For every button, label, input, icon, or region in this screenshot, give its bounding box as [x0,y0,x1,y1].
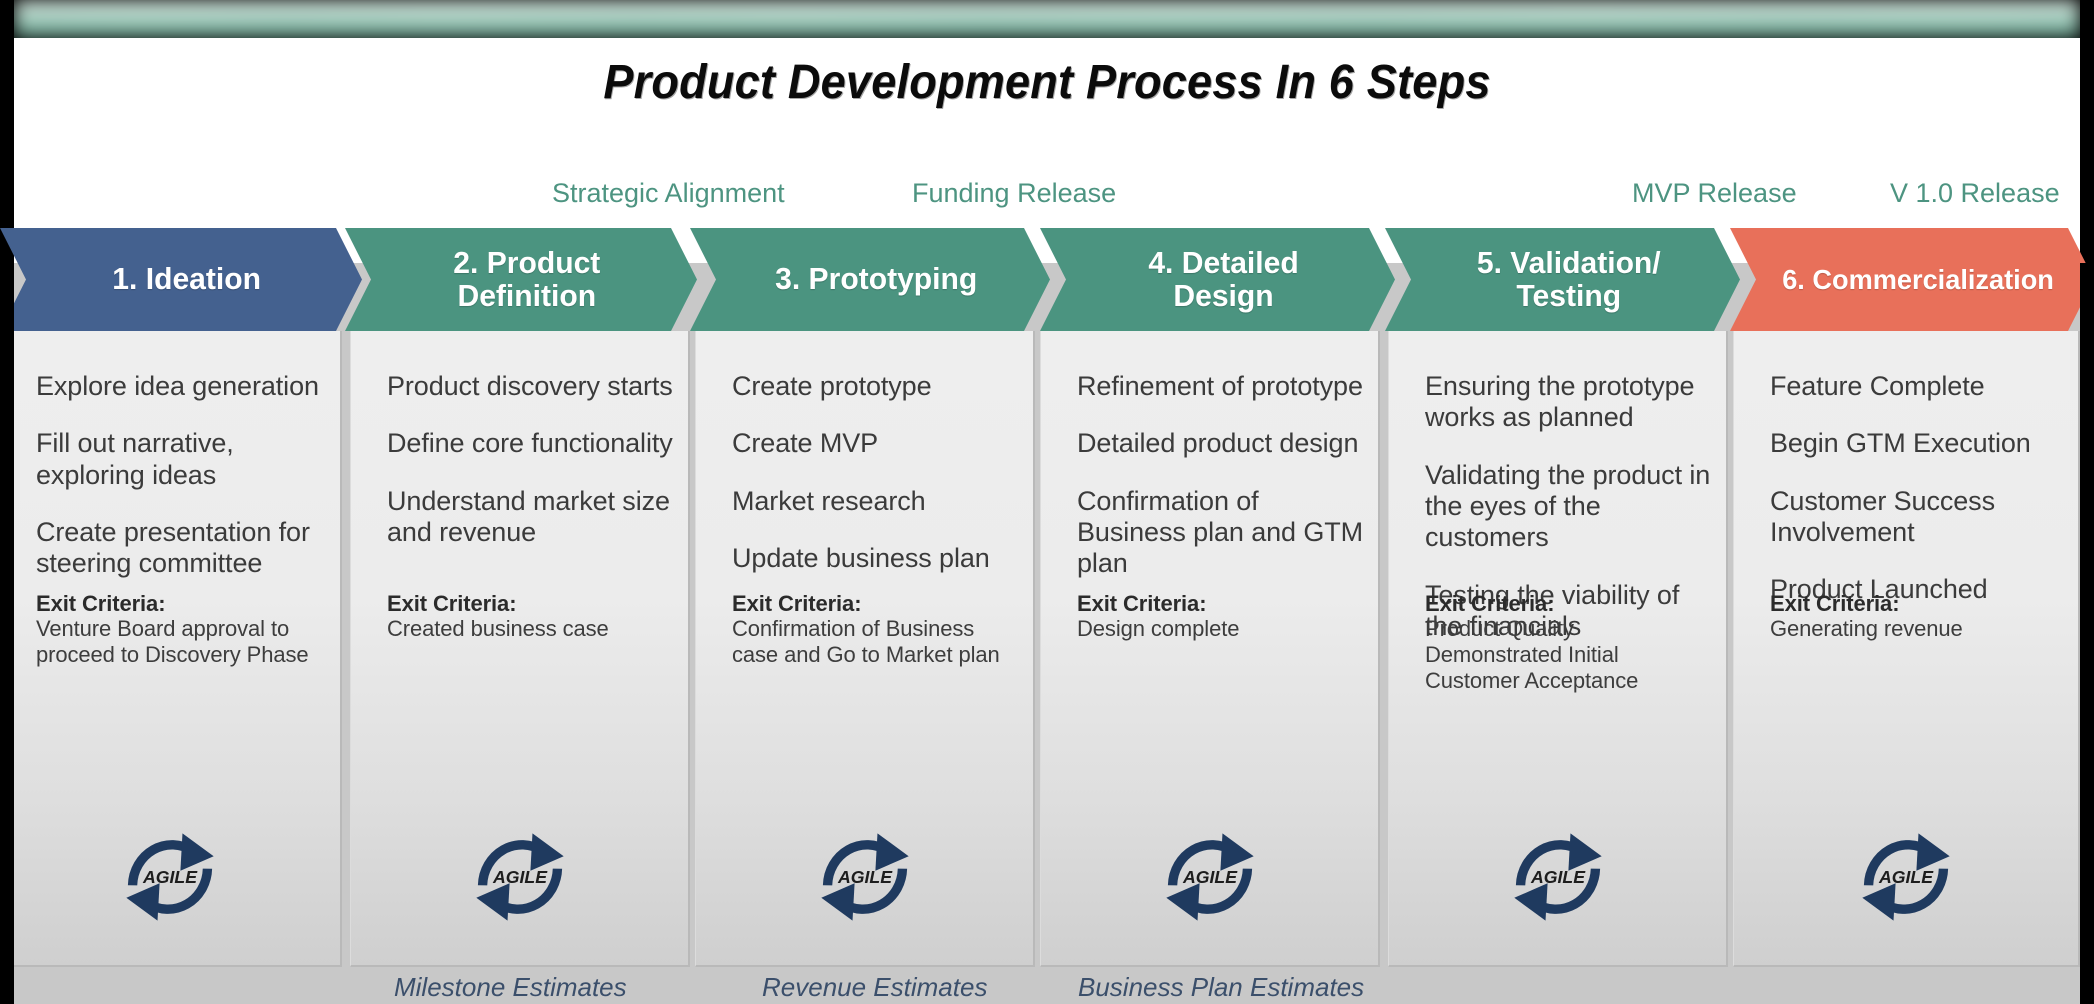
stage-panel-detailed-design[interactable]: Refinement of prototypeDetailed product … [1040,331,1380,967]
stage-chevron-label-ideation: 1. Ideation [110,263,263,296]
bullet-item: Detailed product design [1077,428,1366,459]
stage-chevron-ideation[interactable]: 1. Ideation [0,228,362,331]
stage-chevron-label-commercialization: 6. Commercialization [1778,265,2058,295]
bullet-item: Refinement of prototype [1077,371,1366,402]
stage-panel-prototyping[interactable]: Create prototypeCreate MVPMarket researc… [695,331,1035,967]
exit-criteria-validation-testing: Exit Criteria:Product Quality Demonstrat… [1425,591,1716,694]
stage-bullets-prototyping: Create prototypeCreate MVPMarket researc… [732,371,1021,600]
agile-label: AGILE [1530,867,1586,887]
bullet-item: Fill out narrative, exploring ideas [36,428,328,491]
bullet-item: Confirmation of Business plan and GTM pl… [1077,486,1366,580]
stage-chevron-commercialization[interactable]: 6. Commercialization [1730,228,2094,331]
slide-right-edge [2080,263,2094,1004]
stage-title-line: Definition [453,280,600,313]
stage-chevron-product-definition[interactable]: 2. ProductDefinition [345,228,697,331]
exit-criteria-product-definition: Exit Criteria:Created business case [387,591,678,642]
milestone-label-3: V 1.0 Release [1890,178,2060,209]
stage-title-line: 4. Detailed [1148,247,1298,280]
bullet-item: Product discovery starts [387,371,676,402]
exit-criteria-body: Created business case [387,616,678,642]
stage-panel-product-definition[interactable]: Product discovery startsDefine core func… [350,331,690,967]
agile-label: AGILE [837,867,893,887]
agile-label: AGILE [142,867,198,887]
bullet-item: Begin GTM Execution [1770,428,2066,459]
stage-panel-commercialization[interactable]: Feature CompleteBegin GTM ExecutionCusto… [1733,331,2080,967]
bullet-item: Validating the product in the eyes of th… [1425,460,1714,554]
stage-chevron-detailed-design[interactable]: 4. DetailedDesign [1040,228,1395,331]
exit-criteria-title: Exit Criteria: [387,591,678,616]
bullet-item: Update business plan [732,543,1021,574]
estimate-label-0: Milestone Estimates [394,972,627,1003]
exit-criteria-detailed-design: Exit Criteria:Design complete [1077,591,1368,642]
stage-title-line: Design [1148,280,1298,313]
agile-cycle-icon: AGILE [1158,825,1262,929]
stage-title-line: 3. Prototyping [775,263,977,296]
exit-criteria-body: Design complete [1077,616,1368,642]
top-banner [0,0,2094,40]
estimate-label-1: Revenue Estimates [762,972,987,1003]
agile-label: AGILE [1878,867,1934,887]
milestone-label-0: Strategic Alignment [552,178,785,209]
banner-gradient [14,0,2080,38]
stage-bullets-detailed-design: Refinement of prototypeDetailed product … [1077,371,1366,606]
stage-title-line: Testing [1477,280,1661,313]
exit-criteria-commercialization: Exit Criteria:Generating revenue [1770,591,2068,642]
slide-root: Product Development Process In 6 Steps S… [0,0,2094,1004]
milestone-label-2: MVP Release [1632,178,1797,209]
page-title: Product Development Process In 6 Steps [63,55,2031,110]
agile-label: AGILE [1182,867,1238,887]
estimate-label-2: Business Plan Estimates [1078,972,1364,1003]
bullet-item: Understand market size and revenue [387,486,676,549]
exit-criteria-title: Exit Criteria: [1425,591,1716,616]
exit-criteria-title: Exit Criteria: [1077,591,1368,616]
bullet-item: Ensuring the prototype works as planned [1425,371,1714,434]
exit-criteria-title: Exit Criteria: [36,591,330,616]
exit-criteria-body: Confirmation of Business case and Go to … [732,616,1023,667]
agile-label: AGILE [492,867,548,887]
bullet-item: Market research [732,486,1021,517]
stage-chevron-label-validation-testing: 5. Validation/Testing [1474,247,1664,313]
stage-chevron-band: 1. Ideation2. ProductDefinition3. Protot… [0,228,2094,331]
exit-criteria-prototyping: Exit Criteria:Confirmation of Business c… [732,591,1023,668]
bullet-item: Feature Complete [1770,371,2066,402]
agile-cycle-icon: AGILE [468,825,572,929]
exit-criteria-body: Venture Board approval to proceed to Dis… [36,616,330,667]
stage-title-line: 6. Commercialization [1782,265,2054,295]
exit-criteria-body: Generating revenue [1770,616,2068,642]
agile-badge-product-definition: AGILE [468,825,572,929]
stage-chevron-label-product-definition: 2. ProductDefinition [451,247,603,313]
agile-badge-ideation: AGILE [118,825,222,929]
bullet-item: Explore idea generation [36,371,328,402]
agile-cycle-icon: AGILE [1506,825,1610,929]
exit-criteria-ideation: Exit Criteria:Venture Board approval to … [36,591,330,668]
agile-cycle-icon: AGILE [813,825,917,929]
agile-badge-prototyping: AGILE [813,825,917,929]
stage-chevron-label-detailed-design: 4. DetailedDesign [1146,247,1301,313]
stage-title-line: 5. Validation/ [1477,247,1661,280]
banner-left-edge [0,0,14,40]
slide-left-edge [0,263,14,1004]
stage-panels-row: Explore idea generationFill out narrativ… [0,331,2094,967]
agile-cycle-icon: AGILE [1854,825,1958,929]
agile-cycle-icon: AGILE [118,825,222,929]
bullet-item: Create MVP [732,428,1021,459]
agile-badge-commercialization: AGILE [1854,825,1958,929]
stage-bullets-product-definition: Product discovery startsDefine core func… [387,371,676,574]
exit-criteria-title: Exit Criteria: [1770,591,2068,616]
agile-badge-detailed-design: AGILE [1158,825,1262,929]
exit-criteria-body: Product Quality Demonstrated Initial Cus… [1425,616,1716,693]
stage-bullets-ideation: Explore idea generationFill out narrativ… [36,371,328,606]
banner-right-edge [2080,0,2094,40]
bullet-item: Define core functionality [387,428,676,459]
estimate-labels-row: Milestone EstimatesRevenue EstimatesBusi… [0,972,2094,1004]
bullet-item: Create presentation for steering committ… [36,517,328,580]
agile-badge-validation-testing: AGILE [1506,825,1610,929]
stage-chevron-label-prototyping: 3. Prototyping [772,263,980,296]
stage-title-line: 1. Ideation [113,263,262,296]
exit-criteria-title: Exit Criteria: [732,591,1023,616]
milestone-labels-row: Strategic AlignmentFunding ReleaseMVP Re… [0,178,2094,218]
stage-chevron-validation-testing[interactable]: 5. Validation/Testing [1385,228,1740,331]
milestone-label-1: Funding Release [912,178,1116,209]
stage-panel-validation-testing[interactable]: Ensuring the prototype works as plannedV… [1388,331,1728,967]
stage-title-line: 2. Product [453,247,600,280]
stage-panel-ideation[interactable]: Explore idea generationFill out narrativ… [0,331,342,967]
bullet-item: Create prototype [732,371,1021,402]
bullet-item: Customer Success Involvement [1770,486,2066,549]
stage-chevron-prototyping[interactable]: 3. Prototyping [690,228,1050,331]
